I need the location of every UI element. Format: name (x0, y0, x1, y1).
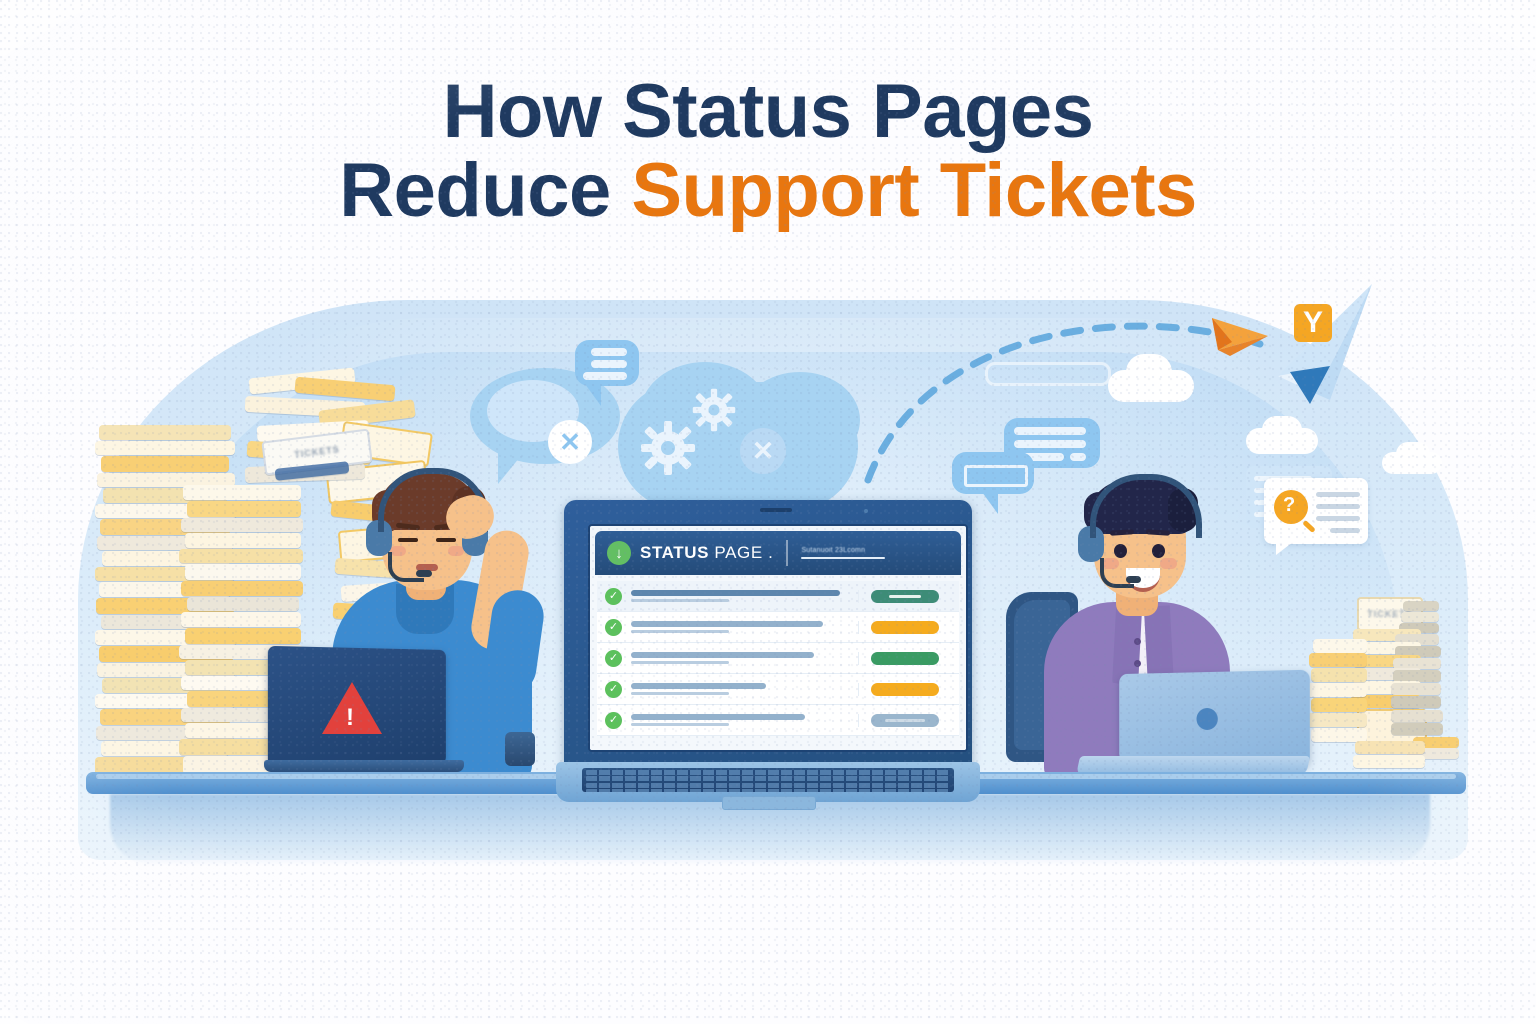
small-ticket-stack: TICKETS (1295, 585, 1470, 780)
status-row[interactable]: ✓ (597, 581, 959, 612)
cloud-icon (1396, 442, 1430, 466)
status-row[interactable]: ✓ (597, 674, 959, 705)
right-agent-laptop[interactable] (1078, 672, 1318, 782)
laptop-notch (760, 508, 792, 512)
paper-plane-icon (1212, 318, 1268, 356)
status-row-state-cell (858, 590, 951, 603)
status-row-label (631, 590, 849, 602)
status-badge (871, 621, 939, 634)
status-badge (871, 683, 939, 696)
illustration-canvas: ✕ ✕ ? (0, 0, 1536, 1024)
status-row-state-cell (858, 621, 951, 634)
laptop-screen: ↓ STATUS PAGE . Sutanuoit 23Lcomn ✓✓✓✓✓ (588, 524, 968, 752)
status-row-label (631, 683, 849, 695)
title-line-2: Reduce Support Tickets (0, 151, 1536, 230)
status-badge (871, 590, 939, 603)
status-row-state-cell (858, 652, 951, 665)
svg-text:Y: Y (1303, 306, 1323, 339)
title-line-2-dark: Reduce (339, 148, 631, 233)
status-page-header: ↓ STATUS PAGE . Sutanuoit 23Lcomn (595, 531, 961, 575)
laptop-lid: ↓ STATUS PAGE . Sutanuoit 23Lcomn ✓✓✓✓✓ (564, 500, 972, 768)
laptop-keyboard[interactable] (582, 768, 954, 792)
down-arrow-icon: ↓ (607, 541, 631, 565)
header-divider (786, 540, 788, 566)
chat-bubble-icon (575, 340, 639, 386)
brand-bold: STATUS (640, 543, 709, 562)
status-badge (871, 714, 939, 727)
title-line-2-accent: Support Tickets (631, 148, 1196, 233)
status-row-state-cell (858, 714, 951, 727)
faq-card: ? (1264, 478, 1368, 544)
check-circle-icon: ✓ (605, 681, 622, 698)
status-page-brand: STATUS PAGE . (640, 543, 773, 563)
check-circle-icon: ✓ (605, 588, 622, 605)
left-agent-laptop[interactable]: ! (270, 648, 466, 778)
status-badge (871, 652, 939, 665)
check-circle-icon: ✓ (605, 650, 622, 667)
status-row[interactable]: ✓ (597, 612, 959, 643)
faq-card-tail (1276, 542, 1293, 555)
laptop-trackpad[interactable] (722, 796, 816, 810)
paper-plane-icon: Y (1278, 284, 1372, 404)
status-page-laptop[interactable]: ↓ STATUS PAGE . Sutanuoit 23Lcomn ✓✓✓✓✓ (556, 500, 980, 820)
check-circle-icon: ✓ (605, 712, 622, 729)
status-row-state-cell (858, 683, 951, 696)
status-row-label (631, 714, 849, 726)
gear-icon (692, 388, 736, 432)
status-row[interactable]: ✓ (597, 705, 959, 736)
gear-icon (640, 420, 696, 476)
question-mark-glyph: ? (1283, 495, 1295, 515)
meta-underline (801, 557, 885, 559)
x-circle-icon: ✕ (548, 420, 592, 464)
status-page-rows: ✓✓✓✓✓ (590, 575, 966, 751)
status-badge-label (885, 719, 925, 722)
page-title: How Status Pages Reduce Support Tickets (0, 72, 1536, 230)
title-line-1: How Status Pages (0, 72, 1536, 151)
mouse-device[interactable] (505, 732, 535, 766)
meta-text: Sutanuoit 23Lcomn (801, 547, 885, 554)
laptop-logo (1197, 708, 1218, 730)
warning-exclamation-glyph: ! (346, 706, 354, 730)
status-row-label (631, 652, 849, 664)
ticket-label-text: TICKETS (294, 444, 340, 459)
laptop-screen (1119, 670, 1310, 767)
laptop-camera-icon (864, 509, 868, 513)
status-badge-label (889, 595, 921, 598)
check-circle-icon: ✓ (605, 619, 622, 636)
brand-light: PAGE . (709, 543, 773, 562)
status-row[interactable]: ✓ (597, 643, 959, 674)
status-page-meta: Sutanuoit 23Lcomn (801, 547, 885, 559)
x-circle-icon: ✕ (740, 428, 786, 474)
status-row-label (631, 621, 849, 633)
